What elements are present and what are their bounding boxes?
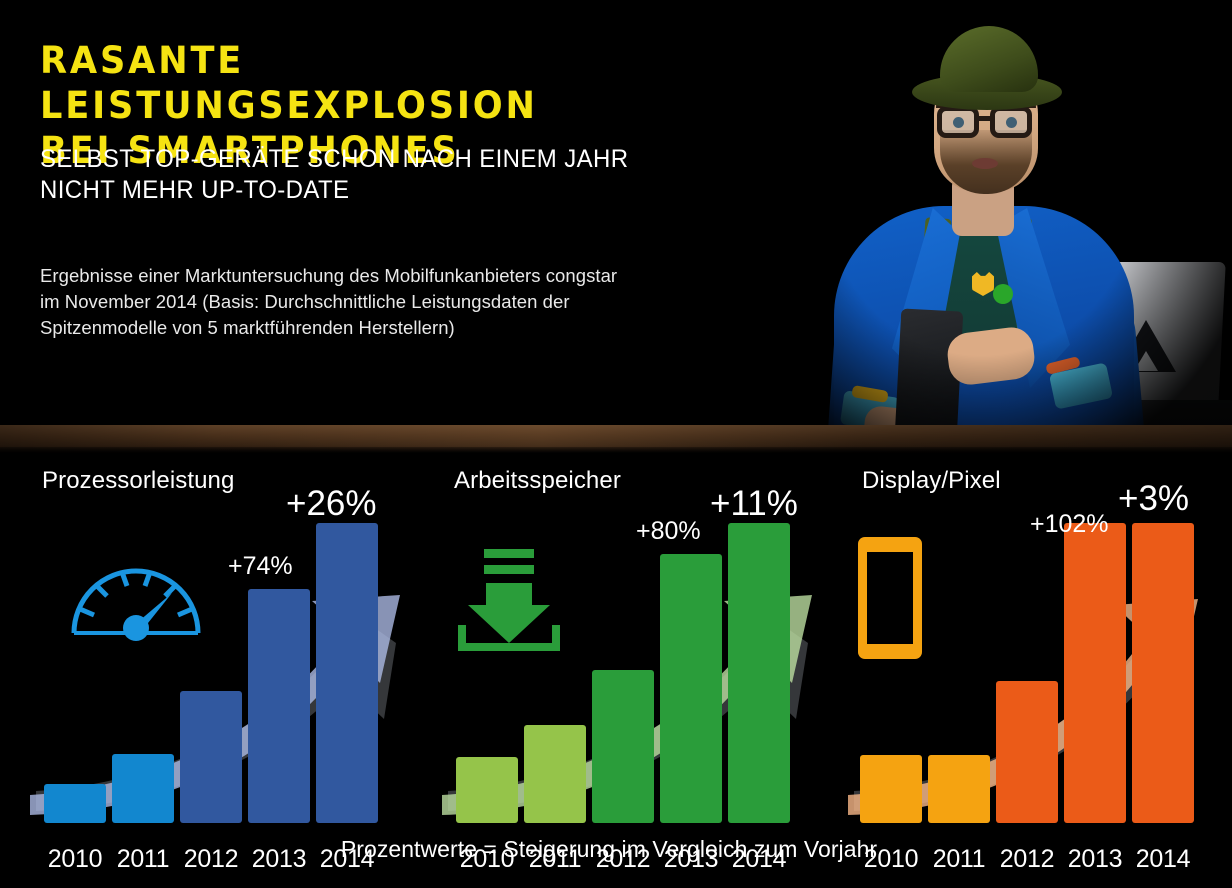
body-line-2: im November 2014 (Basis: Durchschnittlic… <box>40 289 780 315</box>
chart-prozessorleistung: Prozessorleistung <box>28 453 428 888</box>
body-text: Ergebnisse einer Marktuntersuchung des M… <box>40 263 780 341</box>
chart-title-prozessorleistung: Prozessorleistung <box>42 467 234 495</box>
bar-2012 <box>996 681 1058 823</box>
bar-2014 <box>1132 523 1194 823</box>
header-section: RASANTE LEISTUNGSEXPLOSION BEI SMARTPHON… <box>0 0 1232 425</box>
bar-2010 <box>860 755 922 823</box>
chart-arbeitsspeicher: Arbeitsspeicher <box>440 453 840 888</box>
bar-2011 <box>928 755 990 823</box>
subheadline-line-2: NICHT MEHR UP-TO-DATE <box>40 175 712 206</box>
pct-label-2014: +11% <box>710 484 798 524</box>
bar-2013 <box>1064 523 1126 823</box>
bar-2011 <box>112 754 174 823</box>
pct-label-2013: +80% <box>636 517 701 546</box>
pct-label-2014: +3% <box>1118 479 1189 519</box>
plot-area-arbeitsspeicher <box>440 523 840 823</box>
subheadline: SELBST TOP-GERÄTE SCHON NACH EINEM JAHR … <box>40 144 740 206</box>
headline-line-1: RASANTE LEISTUNGSEXPLOSION <box>40 38 724 128</box>
hero-photo <box>800 0 1232 425</box>
bar-2012 <box>592 670 654 823</box>
subheadline-line-1: SELBST TOP-GERÄTE SCHON NACH EINEM JAHR <box>40 144 712 175</box>
bar-2010 <box>456 757 518 823</box>
bar-2014 <box>728 523 790 823</box>
body-line-1: Ergebnisse einer Marktuntersuchung des M… <box>40 263 780 289</box>
bar-2013 <box>248 589 310 823</box>
chart-title-display-pixel: Display/Pixel <box>862 467 1001 495</box>
bar-2010 <box>44 784 106 823</box>
plot-area-display-pixel <box>848 523 1220 823</box>
footer-note: Prozentwerte = Steigerung im Vergleich z… <box>0 836 1232 863</box>
chart-display-pixel: Display/Pixel +102% +3% 2 <box>848 453 1220 888</box>
pct-label-2014: +26% <box>286 484 377 524</box>
bar-2011 <box>524 725 586 823</box>
bar-2012 <box>180 691 242 823</box>
pct-label-2013: +102% <box>1030 510 1109 539</box>
pct-label-2013: +74% <box>228 552 293 581</box>
charts-section: Prozessorleistung <box>0 453 1232 888</box>
bar-2014 <box>316 523 378 823</box>
chart-title-arbeitsspeicher: Arbeitsspeicher <box>454 467 621 495</box>
photo-vignette <box>800 0 1232 425</box>
bar-2013 <box>660 554 722 823</box>
desk-divider <box>0 425 1232 453</box>
infographic-root: RASANTE LEISTUNGSEXPLOSION BEI SMARTPHON… <box>0 0 1232 888</box>
body-line-3: Spitzenmodelle von 5 marktführenden Hers… <box>40 315 780 341</box>
